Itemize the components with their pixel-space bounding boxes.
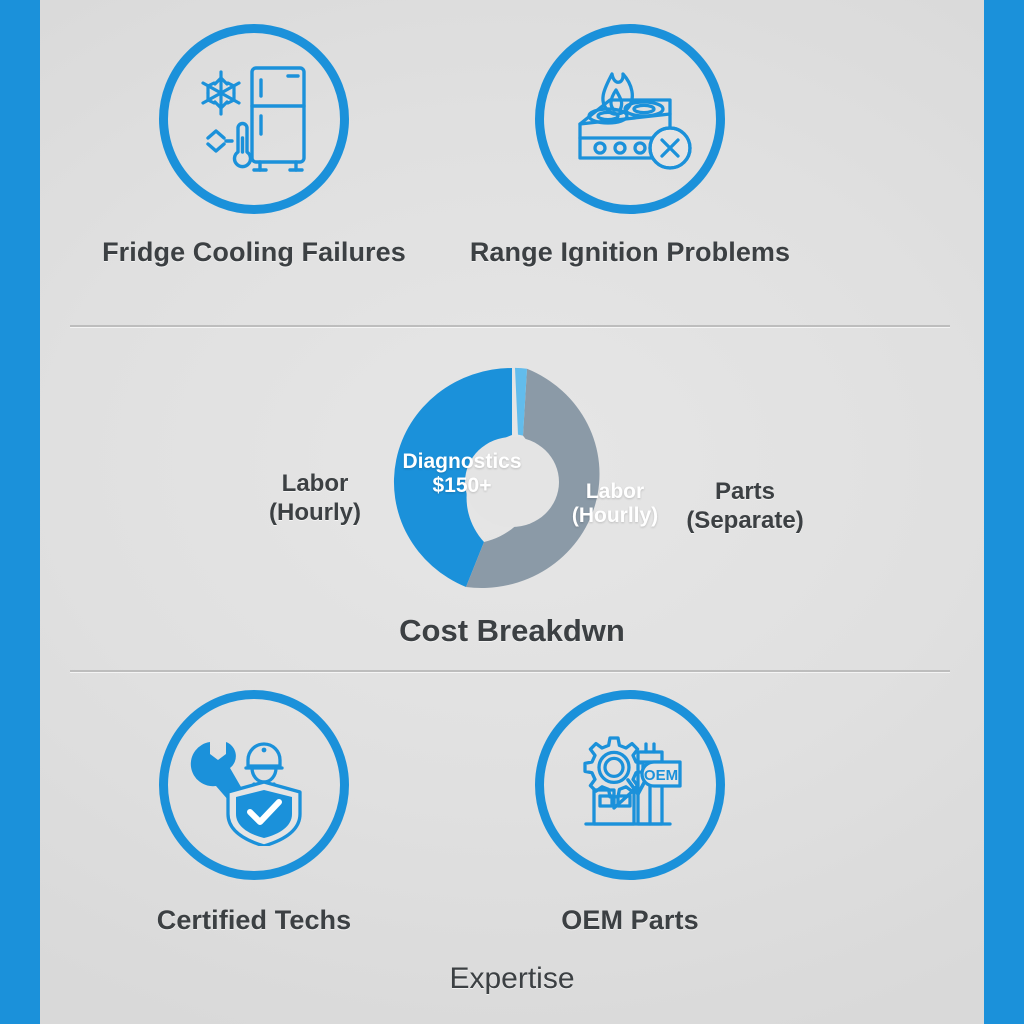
donut-graphic <box>389 363 635 601</box>
section-divider-bottom <box>70 670 950 672</box>
section-caption-expertise: Expertise <box>40 962 984 996</box>
section-divider-top <box>70 325 950 327</box>
donut-outer-label-parts: Parts (Separate) <box>650 478 840 536</box>
card-certified-techs[interactable]: Certified Techs <box>64 690 444 937</box>
oem-parts-factory-gear-icon: OEM <box>566 724 694 846</box>
card-oem-parts[interactable]: OEM OEM Parts <box>440 690 820 937</box>
card-label-range: Range Ignition Problems <box>440 236 820 269</box>
infographic-content: Fridge Cooling Failures <box>40 0 984 1024</box>
icon-ring-range <box>535 24 725 214</box>
card-range-ignition[interactable]: Range Ignition Problems <box>440 24 820 269</box>
infographic-canvas: Fridge Cooling Failures <box>0 0 1024 1024</box>
outer-label-labor-line2: (Hourly) <box>269 499 361 526</box>
certified-technician-shield-icon <box>190 724 318 846</box>
left-accent-bar <box>0 0 40 1024</box>
fridge-cooling-icon <box>190 58 318 180</box>
card-label-certified-techs: Certified Techs <box>64 904 444 937</box>
svg-text:OEM: OEM <box>644 767 678 784</box>
chart-title: Cost Breakdwn <box>40 613 984 649</box>
cost-breakdown-chart: Diagnostics $150+ Labor (Hourlly) Labor … <box>40 330 984 668</box>
icon-ring-certified <box>159 690 349 880</box>
icon-ring-fridge <box>159 24 349 214</box>
outer-label-labor-line1: Labor <box>282 470 349 497</box>
outer-label-parts-line2: (Separate) <box>686 507 803 534</box>
card-label-oem-parts: OEM Parts <box>440 904 820 937</box>
card-label-fridge: Fridge Cooling Failures <box>64 236 444 269</box>
range-ignition-icon <box>566 58 694 180</box>
right-accent-bar <box>984 0 1024 1024</box>
card-fridge-cooling[interactable]: Fridge Cooling Failures <box>64 24 444 269</box>
donut-hub <box>465 437 559 527</box>
icon-ring-oem: OEM <box>535 690 725 880</box>
donut-outer-label-labor: Labor (Hourly) <box>230 470 400 528</box>
outer-label-parts-line1: Parts <box>715 478 775 505</box>
